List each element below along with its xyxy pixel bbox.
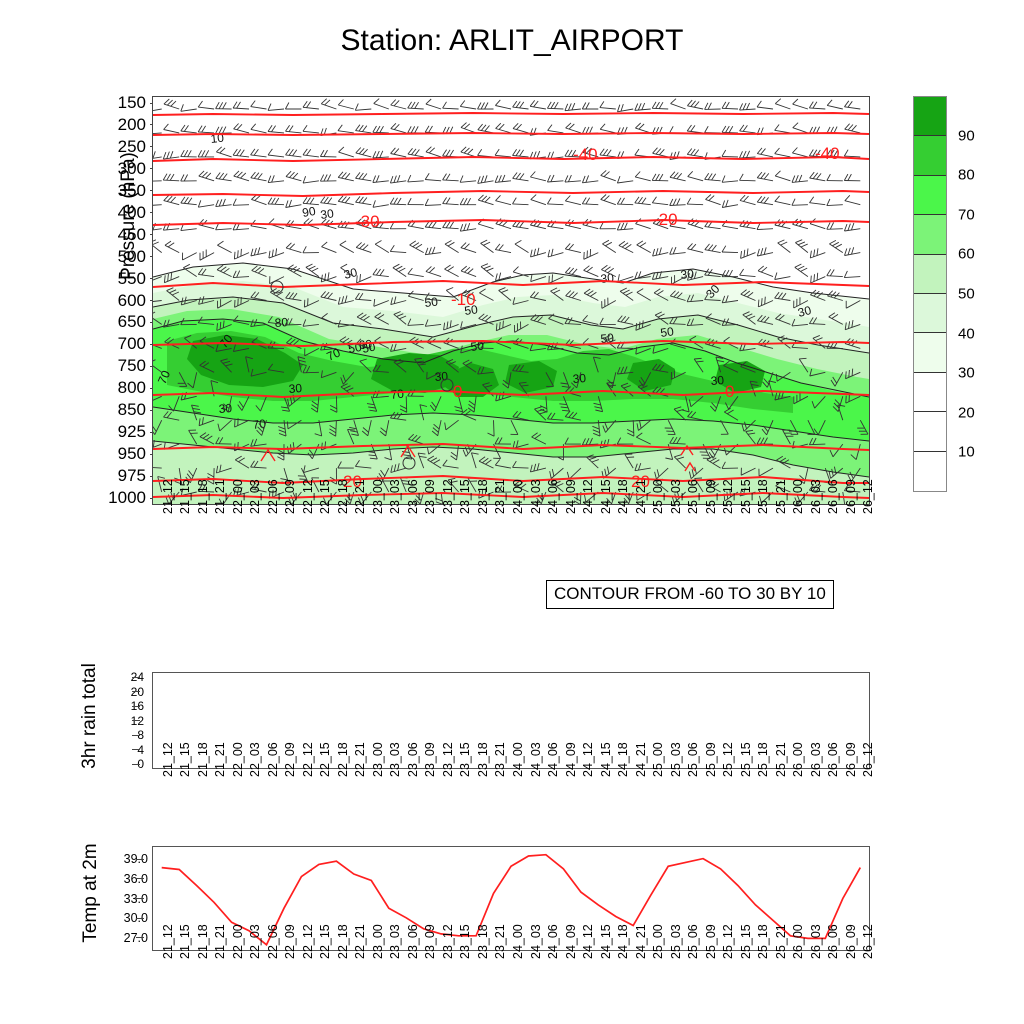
- wind-barb-feather: [764, 173, 769, 179]
- wind-barb-shaft: [303, 181, 319, 183]
- main-x-tick-25_06: 25_06: [686, 479, 700, 514]
- wind-barb-feather: [464, 148, 469, 153]
- page-title: Station: ARLIT_AIRPORT: [0, 24, 1024, 58]
- main-x-tick-24_18: 24_18: [616, 479, 630, 514]
- rain-y-tickmark: [132, 677, 140, 678]
- wind-barb-shaft: [687, 204, 703, 205]
- wind-barb-shaft: [775, 130, 791, 133]
- wind-barb-shaft: [652, 203, 668, 205]
- wind-barb-shaft: [845, 253, 861, 256]
- wind-barb-feather: [432, 247, 435, 254]
- temp-y-tickmark: [136, 878, 144, 879]
- wind-barb-shaft: [286, 205, 302, 208]
- wind-barb-shaft: [410, 245, 424, 253]
- wind-barb-feather: [478, 149, 482, 155]
- wind-barb-feather: [569, 124, 574, 129]
- colorbar-band-1: [914, 136, 946, 175]
- wind-barb-feather: [360, 274, 361, 281]
- temp-x-tick-22_00: 22_00: [231, 924, 245, 959]
- wind-barb-feather: [461, 147, 466, 152]
- wind-barb-feather: [373, 269, 377, 275]
- wind-barb-feather: [601, 170, 607, 175]
- wind-barb-shaft: [688, 249, 704, 253]
- wind-barb-shaft: [375, 244, 389, 252]
- temp-x-tick-25_12: 25_12: [721, 924, 735, 959]
- wind-barb-feather: [233, 199, 236, 206]
- wind-barb-feather: [289, 126, 293, 132]
- wind-barb-shaft: [443, 180, 459, 181]
- wind-barb-feather: [206, 173, 211, 178]
- wind-barb-shaft: [251, 199, 266, 204]
- wind-barb-feather: [516, 124, 521, 129]
- temp-y-tickmark: [136, 859, 144, 860]
- wind-barb-feather: [219, 102, 223, 108]
- wind-barb-feather: [460, 176, 463, 183]
- wind-barb-shaft: [706, 199, 721, 204]
- rain-x-axis-labels: 21_1221_1521_1821_2122_0022_0322_0622_09…: [152, 775, 870, 835]
- wind-barb-feather: [603, 149, 607, 155]
- colorbar-label-20: 20: [958, 404, 975, 421]
- wind-barb-feather: [582, 198, 586, 204]
- wind-barb-feather: [448, 267, 454, 271]
- wind-barb-feather: [617, 223, 620, 230]
- wind-barb-feather: [830, 223, 833, 230]
- wind-barb-feather: [708, 103, 711, 110]
- rain-x-tick-24_21: 24_21: [634, 742, 648, 777]
- wind-barb-feather: [359, 197, 363, 203]
- main-x-tick-25_09: 25_09: [704, 479, 718, 514]
- wind-barb-feather: [747, 249, 748, 256]
- wind-barb-shaft: [268, 155, 284, 157]
- wind-barb-feather: [513, 267, 518, 272]
- temp-y-tickmark: [136, 918, 144, 919]
- wind-barb-feather: [744, 250, 745, 257]
- wind-barb-feather: [446, 150, 450, 156]
- wind-barb-feather: [740, 103, 743, 110]
- main-x-tick-22_06: 22_06: [266, 479, 280, 514]
- wind-barb-shaft: [531, 253, 546, 257]
- temp-x-tick-21_21: 21_21: [213, 924, 227, 959]
- rain-x-tick-23_15: 23_15: [458, 742, 472, 777]
- contour-label-minus20: -20: [653, 210, 678, 229]
- wind-barb-shaft: [722, 252, 738, 253]
- wind-barb-feather: [775, 99, 781, 104]
- main-x-tick-24_03: 24_03: [529, 479, 543, 514]
- wind-barb-shaft: [268, 204, 284, 205]
- colorbar-label-60: 60: [958, 246, 975, 263]
- wind-barb-feather: [426, 266, 431, 271]
- wind-barb-feather: [165, 241, 171, 245]
- wind-barb-shaft: [251, 107, 267, 109]
- wind-barb-feather: [303, 176, 306, 183]
- svg-text:30: 30: [218, 401, 233, 416]
- wind-barb-feather: [516, 173, 521, 179]
- wind-barb-feather: [740, 151, 743, 158]
- wind-barb-feather: [502, 175, 505, 182]
- wind-barb-feather: [464, 124, 470, 129]
- wind-barb-feather: [495, 244, 500, 250]
- wind-barb-feather: [534, 101, 539, 107]
- wind-barb-feather: [251, 149, 255, 155]
- wind-barb-feather: [656, 149, 661, 155]
- wind-barb-feather: [397, 175, 400, 182]
- main-x-axis-labels: 21_1221_1521_1821_2122_0022_0322_0622_09…: [152, 512, 870, 572]
- wind-barb-shaft: [153, 157, 162, 160]
- rain-x-tick-24_12: 24_12: [581, 742, 595, 777]
- contour-note: CONTOUR FROM -60 TO 30 BY 10: [546, 580, 834, 609]
- wind-barb-shaft: [391, 129, 406, 133]
- wind-barb-feather: [687, 149, 692, 155]
- wind-barb-feather: [324, 150, 328, 157]
- wind-barb-shaft: [809, 108, 825, 109]
- wind-barb-feather: [798, 266, 805, 269]
- wind-barb-feather: [565, 267, 570, 272]
- wind-barb-feather: [764, 197, 769, 203]
- wind-barb-feather: [324, 197, 328, 203]
- temp-x-tick-22_15: 22_15: [318, 924, 332, 959]
- wind-barb-feather: [694, 102, 699, 108]
- wind-barb-feather: [743, 103, 746, 110]
- wind-barb-shaft: [547, 204, 563, 205]
- wind-barb-feather: [268, 104, 271, 111]
- wind-barb-shaft: [565, 225, 581, 229]
- wind-barb-feather: [237, 172, 242, 177]
- wind-barb-shaft: [338, 105, 354, 109]
- wind-barb-feather: [530, 172, 535, 178]
- wind-barb-shaft: [408, 274, 424, 277]
- wind-barb-shaft: [705, 227, 721, 229]
- wind-barb-feather: [446, 174, 450, 180]
- wind-barb-feather: [202, 126, 206, 132]
- wind-barb-feather: [217, 241, 223, 245]
- wind-barb-shaft: [792, 205, 808, 206]
- wind-barb-feather: [513, 198, 517, 204]
- wind-barb-shaft: [321, 104, 336, 109]
- wind-barb-feather: [425, 173, 429, 179]
- wind-barb-feather: [340, 241, 346, 245]
- wind-barb-feather: [600, 149, 604, 155]
- wind-barb-feather: [499, 273, 501, 280]
- wind-barb-feather: [845, 195, 850, 201]
- wind-barb-feather: [832, 242, 839, 246]
- sounding-timeseries-page: Station: ARLIT_AIRPORT Pressure (hPa) 15…: [0, 0, 1024, 1024]
- rain-y-axis-title: 3hr rain total: [79, 636, 101, 796]
- colorbar[interactable]: [913, 96, 947, 492]
- wind-barb-feather: [670, 199, 673, 206]
- colorbar-band-4: [914, 255, 946, 294]
- wind-barb-shaft: [844, 156, 860, 157]
- wind-barb-feather: [622, 243, 628, 247]
- wind-barb-feather: [390, 176, 393, 183]
- wind-barb-shaft: [495, 250, 511, 253]
- wind-barb-feather: [757, 172, 762, 178]
- wind-barb-feather: [758, 266, 764, 271]
- wind-barb-feather: [496, 274, 498, 281]
- rain-x-tick-24_00: 24_00: [511, 742, 525, 777]
- wind-barb-feather: [516, 150, 520, 156]
- wind-barb-shaft: [200, 253, 214, 261]
- wind-barb-feather: [548, 250, 550, 257]
- wind-barb-feather: [394, 124, 399, 129]
- wind-barb-shaft: [181, 203, 197, 205]
- main-x-tick-25_18: 25_18: [756, 479, 770, 514]
- temp-x-tick-22_21: 22_21: [353, 924, 367, 959]
- wind-barb-feather: [761, 197, 766, 203]
- wind-barb-feather: [391, 123, 396, 128]
- wind-barb-feather: [652, 102, 656, 108]
- wind-barb-feather: [223, 174, 228, 180]
- contour-label-zero-b: 0: [725, 382, 734, 401]
- rain-x-tick-22_12: 22_12: [301, 742, 315, 777]
- wind-barb-feather: [345, 173, 350, 179]
- rain-y-tickmark: [132, 749, 140, 750]
- wind-barb-feather: [255, 196, 261, 201]
- wind-barb-shaft: [722, 156, 738, 157]
- wind-barb-feather: [565, 175, 568, 182]
- wind-barb-feather: [198, 126, 202, 132]
- wind-barb-feather: [547, 198, 551, 204]
- wind-barb-feather: [566, 123, 571, 128]
- wind-barb-feather: [757, 196, 762, 202]
- wind-barb-feather: [445, 265, 451, 269]
- wind-barb-feather: [844, 271, 847, 278]
- wind-barb-feather: [481, 264, 488, 267]
- wind-barb-shaft: [547, 181, 563, 182]
- wind-barb-shaft: [722, 181, 738, 183]
- wind-barb-shaft: [373, 181, 389, 183]
- wind-barb-shaft: [478, 181, 494, 184]
- wind-barb-feather: [411, 126, 415, 132]
- wind-barb-shaft: [408, 181, 424, 182]
- wind-barb-feather: [416, 244, 422, 248]
- wind-barb-shaft: [775, 277, 791, 280]
- wind-barb-feather: [303, 101, 307, 107]
- wind-barb-shaft: [584, 270, 599, 276]
- main-y-tick-650: 650: [118, 312, 146, 332]
- wind-barb-feather: [286, 201, 288, 208]
- wind-barb-feather: [411, 149, 416, 155]
- wind-barb-feather: [687, 125, 691, 131]
- wind-barb-shaft: [775, 201, 791, 204]
- wind-barb-feather: [792, 148, 797, 153]
- wind-barb-feather: [537, 151, 540, 158]
- wind-barb-feather: [307, 149, 311, 155]
- main-y-axis-labels: 1502002503003504004505005506006507007508…: [96, 96, 146, 505]
- wind-barb-shaft: [216, 205, 232, 207]
- temp-y-axis-labels: 39.036.033.030.027.0: [100, 846, 148, 951]
- wind-barb-feather: [339, 147, 344, 152]
- wind-barb-feather: [781, 242, 788, 245]
- svg-text:30: 30: [319, 206, 334, 222]
- wind-barb-shaft: [617, 229, 633, 230]
- wind-barb-feather: [642, 103, 645, 110]
- wind-barb-feather: [312, 268, 319, 271]
- rain-x-tick-22_21: 22_21: [353, 742, 367, 777]
- wind-barb-feather: [184, 150, 188, 157]
- wind-barb-feather: [219, 199, 222, 206]
- wind-barb-feather: [496, 123, 501, 128]
- rain-x-tick-23_00: 23_00: [371, 742, 385, 777]
- wind-barb-feather: [625, 244, 631, 248]
- wind-barb-feather: [269, 219, 274, 224]
- main-y-tick-600: 600: [118, 291, 146, 311]
- wind-barb-shaft: [565, 181, 581, 182]
- main-x-tick-25_00: 25_00: [651, 479, 665, 514]
- wind-barb-feather: [345, 197, 350, 203]
- wind-barb-feather: [355, 104, 358, 111]
- wind-barb-shaft: [198, 205, 214, 208]
- wind-barb-feather: [852, 369, 853, 376]
- wind-barb-shaft: [481, 267, 494, 277]
- wind-barb-feather: [375, 241, 381, 245]
- wind-barb-feather: [601, 265, 607, 269]
- wind-barb-feather: [691, 244, 696, 250]
- temp-x-tick-24_09: 24_09: [564, 924, 578, 959]
- wind-barb-feather: [584, 266, 590, 271]
- wind-barb-feather: [306, 264, 313, 267]
- wind-barb-feather: [303, 125, 307, 131]
- wind-barb-shaft: [778, 243, 791, 253]
- wind-barb-feather: [181, 197, 185, 203]
- wind-barb-feather: [376, 151, 379, 158]
- main-y-tick-925: 925: [118, 422, 146, 442]
- main-x-tick-25_12: 25_12: [721, 479, 735, 514]
- colorbar-band-6: [914, 333, 946, 372]
- wind-barb-feather: [391, 148, 396, 154]
- wind-barb-feather: [408, 198, 412, 205]
- wind-barb-shaft: [758, 271, 773, 277]
- temp-x-tick-22_09: 22_09: [283, 924, 297, 959]
- wind-barb-shaft: [164, 130, 180, 133]
- wind-barb-shaft: [373, 157, 389, 158]
- wind-barb-shaft: [406, 396, 407, 412]
- wind-barb-feather: [163, 152, 166, 159]
- wind-barb-shaft: [390, 204, 406, 205]
- wind-barb-feather: [778, 240, 785, 243]
- colorbar-band-2: [914, 176, 946, 215]
- wind-barb-shaft: [722, 226, 738, 229]
- main-y-tick-250: 250: [118, 137, 146, 157]
- rain-x-tick-25_03: 25_03: [669, 742, 683, 777]
- wind-barb-feather: [181, 104, 184, 111]
- rain-x-tick-25_00: 25_00: [651, 742, 665, 777]
- wind-barb-feather: [548, 125, 552, 131]
- wind-barb-feather: [153, 151, 155, 158]
- wind-barb-shaft: [722, 108, 738, 109]
- wind-barb-shaft: [233, 205, 249, 206]
- rain-x-tick-23_09: 23_09: [423, 742, 437, 777]
- wind-barb-feather: [830, 270, 834, 276]
- wind-barb-shaft: [461, 248, 476, 253]
- contour-label-minus30: -30: [355, 212, 380, 231]
- wind-barb-feather: [399, 268, 406, 272]
- wind-barb-shaft: [827, 276, 843, 277]
- wind-barb-shaft: [515, 244, 529, 253]
- wind-barb-shaft: [163, 157, 179, 159]
- wind-barb-feather: [848, 125, 853, 131]
- wind-barb-shaft: [390, 181, 406, 183]
- wind-barb-shaft: [671, 104, 686, 109]
- wind-barb-feather: [740, 195, 745, 200]
- wind-barb-feather: [429, 148, 434, 153]
- temp-x-tick-25_18: 25_18: [756, 924, 770, 959]
- rain-x-tick-24_06: 24_06: [546, 742, 560, 777]
- wind-barb-feather: [234, 252, 235, 259]
- wind-barb-shaft: [792, 153, 808, 157]
- wind-barb-shaft: [670, 205, 686, 206]
- wind-barb-feather: [726, 126, 730, 132]
- wind-barb-feather: [268, 198, 272, 204]
- wind-barb-feather: [287, 422, 288, 429]
- wind-barb-feather: [320, 175, 323, 182]
- wind-barb-feather: [293, 173, 298, 178]
- wind-barb-feather: [376, 269, 380, 275]
- colorbar-band-5: [914, 294, 946, 333]
- wind-barb-feather: [408, 268, 413, 274]
- wind-barb-feather: [775, 196, 780, 202]
- wind-barb-feather: [202, 172, 207, 177]
- wind-barb-shaft: [530, 106, 546, 109]
- wind-barb-feather: [569, 268, 574, 274]
- wind-barb-feather: [600, 222, 603, 229]
- wind-barb-feather: [638, 103, 641, 110]
- wind-barb-feather: [373, 200, 375, 207]
- wind-barb-feather: [397, 198, 401, 204]
- wind-barb-shaft: [637, 245, 651, 253]
- wind-barb-shaft: [740, 131, 756, 133]
- wind-barb-feather: [446, 222, 450, 228]
- wind-barb-feather: [198, 200, 201, 207]
- main-y-tick-975: 975: [118, 466, 146, 486]
- time-height-plot[interactable]: 10 30 50 90 70 70 70 70 30 50 50 70 50 3…: [152, 96, 870, 505]
- wind-barb-feather: [639, 124, 644, 129]
- wind-barb-feather: [600, 124, 605, 130]
- wind-barb-shaft: [845, 201, 861, 205]
- wind-barb-shaft: [740, 180, 756, 181]
- wind-barb-shaft: [460, 106, 476, 109]
- wind-barb-feather: [708, 245, 713, 251]
- main-x-tick-26_09: 26_09: [844, 479, 858, 514]
- wind-barb-feather: [582, 127, 585, 134]
- wind-barb-shaft: [481, 243, 494, 252]
- wind-barb-feather: [286, 125, 290, 131]
- wind-barb-feather: [342, 173, 347, 179]
- wind-barb-shaft: [425, 253, 441, 255]
- wind-barb-feather: [586, 127, 589, 134]
- wind-barb-feather: [705, 244, 710, 250]
- rain-x-tick-21_12: 21_12: [161, 742, 175, 777]
- wind-barb-feather: [747, 103, 750, 110]
- wind-barb-shaft: [827, 105, 843, 109]
- wind-barb-feather: [322, 242, 328, 247]
- wind-barb-feather: [635, 149, 639, 155]
- wind-barb-feather: [586, 198, 590, 204]
- wind-barb-feather: [637, 241, 643, 245]
- wind-barb-feather: [415, 102, 419, 108]
- main-x-tick-23_18: 23_18: [476, 479, 490, 514]
- wind-barb-feather: [373, 126, 377, 132]
- main-x-tick-22_12: 22_12: [301, 479, 315, 514]
- wind-barb-feather: [586, 103, 590, 110]
- wind-barb-shaft: [269, 253, 284, 259]
- wind-barb-feather: [171, 197, 176, 202]
- wind-barb-feather: [467, 223, 470, 230]
- wind-barb-shaft: [181, 131, 197, 133]
- wind-barb-shaft: [722, 205, 738, 208]
- wind-barb-feather: [460, 101, 465, 107]
- temp-x-tick-24_21: 24_21: [634, 924, 648, 959]
- wind-barb-feather: [275, 198, 279, 204]
